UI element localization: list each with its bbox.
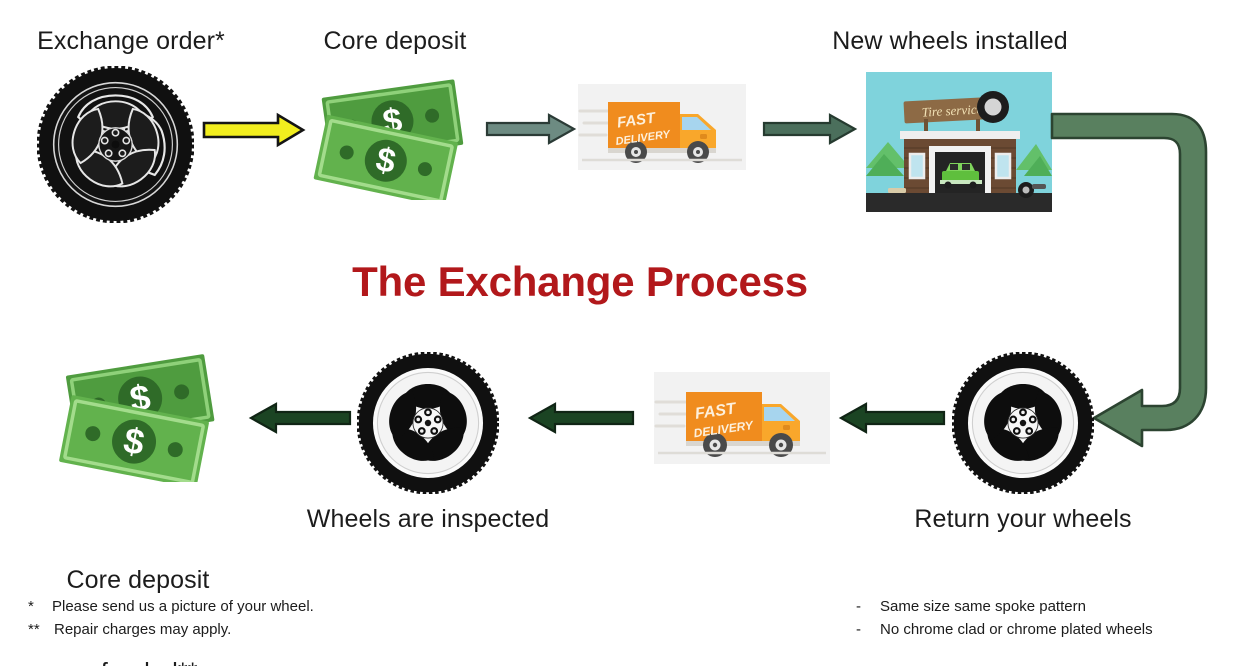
shop-sign-text: Tire service <box>921 101 982 119</box>
money-bills-icon-top: $ $ <box>313 74 476 200</box>
arrow-return-to-shipping <box>838 401 946 435</box>
wheel-silver-rim-icon-inspected <box>357 352 499 494</box>
note-left-1-mark: * <box>28 595 52 618</box>
arrow-shipping-to-inspected <box>527 401 635 435</box>
arrow-exchange-to-deposit <box>202 112 306 148</box>
note-right-2: - No chrome clad or chrome plated wheels <box>856 618 1250 641</box>
note-right-1-text: Same size same spoke pattern <box>880 595 1086 618</box>
money-bills-icon-bottom: $ $ <box>58 352 230 482</box>
note-right-1: - Same size same spoke pattern <box>856 595 1250 618</box>
tire-service-shop-icon: Tire service <box>866 72 1052 212</box>
notes-left: * Please send us a picture of your wheel… <box>28 595 488 642</box>
refund-label-line1: Core deposit <box>18 565 258 596</box>
note-left-2: ** Repair charges may apply. <box>28 618 488 641</box>
step-label-new-wheels-installed: New wheels installed <box>790 26 1110 57</box>
note-right-2-text: No chrome clad or chrome plated wheels <box>880 618 1153 641</box>
wheel-silver-rim-icon-return <box>952 352 1094 494</box>
delivery-truck-icon-outbound: FAST DELIVERY <box>578 84 746 170</box>
note-left-2-text: Repair charges may apply. <box>54 618 231 641</box>
note-right-2-mark: - <box>856 618 880 641</box>
note-left-2-mark: ** <box>28 618 54 641</box>
note-left-1-text: Please send us a picture of your wheel. <box>52 595 314 618</box>
refund-label-line2: refunded** <box>18 657 258 666</box>
note-left-1: * Please send us a picture of your wheel… <box>28 595 488 618</box>
exchange-process-diagram: Exchange order* Core deposit New wheels … <box>0 0 1250 666</box>
step-label-core-deposit-refunded: Core deposit refunded** <box>18 504 258 666</box>
note-right-1-mark: - <box>856 595 880 618</box>
step-label-exchange-order: Exchange order* <box>0 26 262 57</box>
notes-right: - Same size same spoke pattern - No chro… <box>856 595 1250 642</box>
wheel-black-rim-icon <box>37 66 194 223</box>
arrow-deposit-to-shipping <box>485 112 577 146</box>
arrow-inspected-to-refund <box>248 401 352 435</box>
page-title: The Exchange Process <box>0 258 1160 306</box>
step-label-wheels-inspected: Wheels are inspected <box>288 504 568 535</box>
step-label-core-deposit: Core deposit <box>280 26 510 57</box>
delivery-truck-icon-return: FAST DELIVERY <box>654 372 830 464</box>
step-label-return-your-wheels: Return your wheels <box>898 504 1148 535</box>
arrow-shipping-to-install <box>762 112 858 146</box>
